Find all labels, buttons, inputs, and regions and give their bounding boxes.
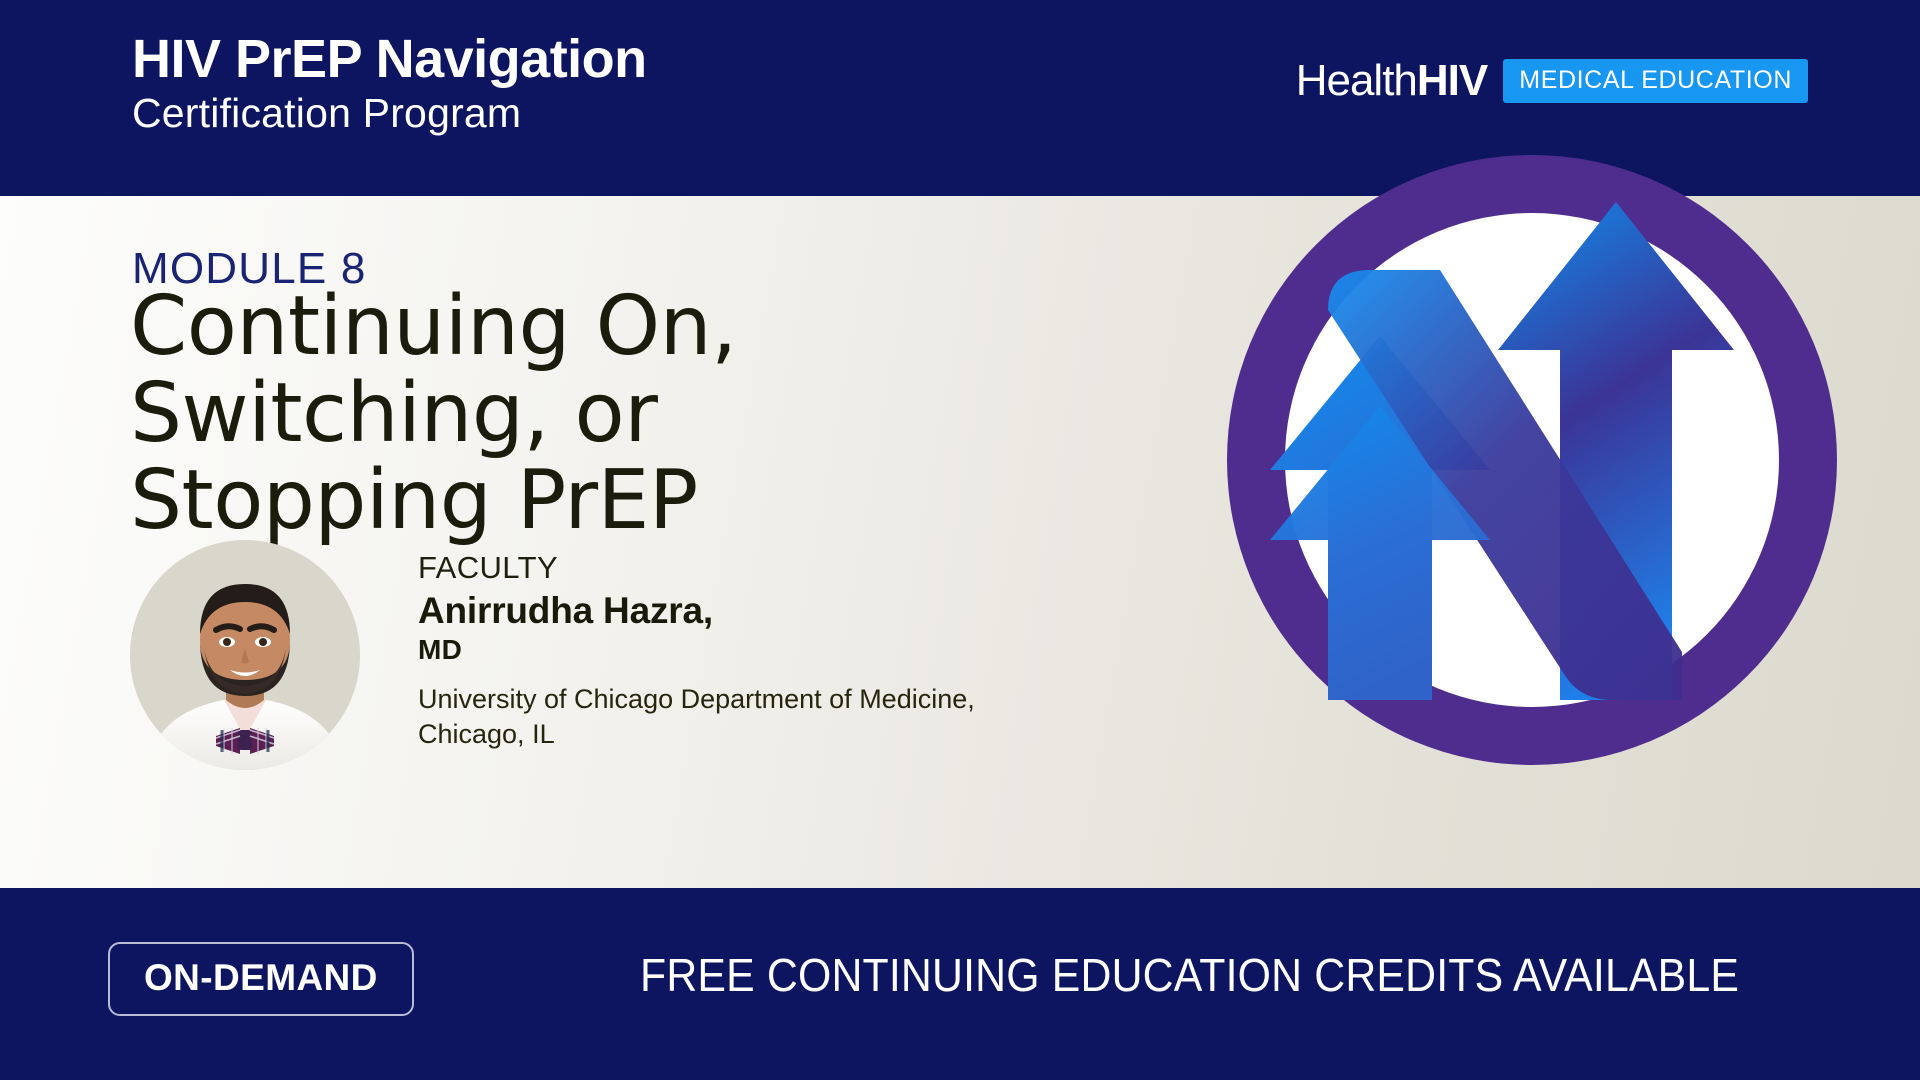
module-title-line-3: Stopping PrEP xyxy=(130,458,737,545)
promo-slide: HIV PrEP Navigation Certification Progra… xyxy=(0,0,1920,1080)
faculty-affiliation-line-1: University of Chicago Department of Medi… xyxy=(418,682,975,717)
brand-wordmark-health: Health xyxy=(1296,56,1417,105)
brand-wordmark-hiv: HIV xyxy=(1417,56,1487,105)
navigation-logo-mark xyxy=(1212,140,1852,780)
on-demand-badge: ON-DEMAND xyxy=(108,942,414,1016)
brand-wordmark: HealthHIV xyxy=(1296,56,1488,106)
footer-band: ON-DEMAND FREE CONTINUING EDUCATION CRED… xyxy=(0,888,1920,1080)
module-title-line-2: Switching, or xyxy=(130,371,737,458)
n-arrows-logo-icon xyxy=(1212,140,1852,780)
faculty-name: Anirrudha Hazra, xyxy=(418,590,975,632)
faculty-headshot xyxy=(130,540,360,770)
faculty-degree: MD xyxy=(418,634,975,666)
healthhiv-logo: HealthHIV MEDICAL EDUCATION xyxy=(1296,56,1808,106)
faculty-block: FACULTY Anirrudha Hazra, MD University o… xyxy=(418,550,975,751)
faculty-portrait-illustration xyxy=(130,540,360,770)
module-title-line-1: Continuing On, xyxy=(130,284,737,371)
module-title: Continuing On, Switching, or Stopping Pr… xyxy=(130,284,737,545)
credits-cta-text: FREE CONTINUING EDUCATION CREDITS AVAILA… xyxy=(640,948,1739,1002)
program-title: HIV PrEP Navigation xyxy=(132,30,647,88)
program-subtitle: Certification Program xyxy=(132,90,647,137)
faculty-label: FACULTY xyxy=(418,550,975,586)
faculty-affiliation-line-2: Chicago, IL xyxy=(418,717,975,752)
faculty-affiliation: University of Chicago Department of Medi… xyxy=(418,682,975,751)
program-heading: HIV PrEP Navigation Certification Progra… xyxy=(132,30,647,137)
medical-education-badge: MEDICAL EDUCATION xyxy=(1503,59,1808,103)
